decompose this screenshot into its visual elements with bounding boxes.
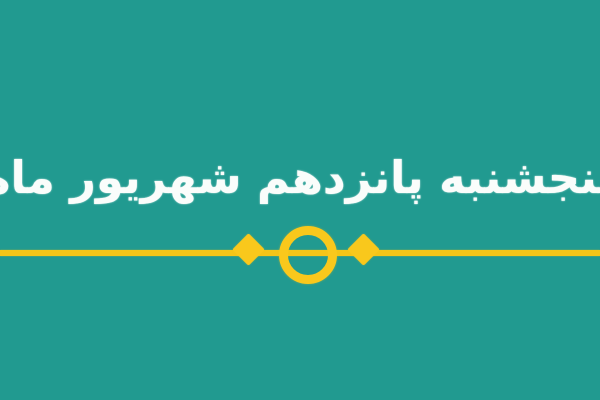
page-title: پنجشنبه پانزدهم شهریور ماه <box>0 153 600 203</box>
diamond-icon-left <box>232 233 265 266</box>
diamond-icon-right <box>347 233 380 266</box>
circle-outline-icon <box>279 226 337 284</box>
ornamental-divider <box>0 226 600 286</box>
headline-container: پنجشنبه پانزدهم شهریور ماه <box>0 132 600 224</box>
graphic-canvas: پنجشنبه پانزدهم شهریور ماه <box>0 0 600 400</box>
